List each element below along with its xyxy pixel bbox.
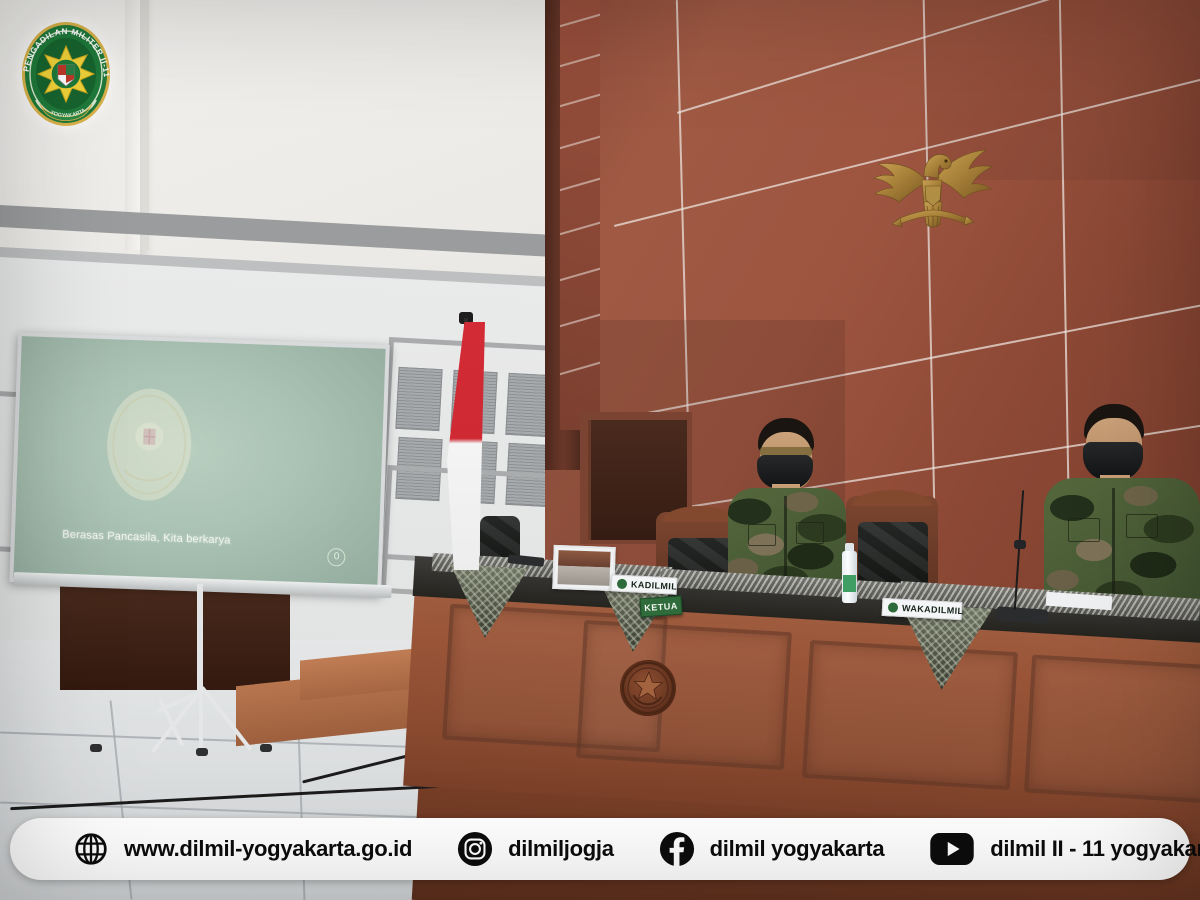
projection-screen-badge: 0 [327,548,346,567]
garuda-pancasila-emblem [858,128,998,238]
footer-item-youtube[interactable]: dilmil II - 11 yogyakarta [928,830,1200,868]
officer-center-chest-pocket [796,522,824,544]
tripod-leg [199,690,203,752]
facebook-icon [658,830,696,868]
nameplate-seal-icon [617,578,628,589]
nameplate-seal-icon [888,602,899,613]
hand-sanitizer-label [843,575,856,592]
tripod-foot [90,744,102,752]
footer-item-facebook[interactable]: dilmil yogyakarta [658,830,885,868]
nameplate-ketua-text: KETUA [644,600,678,612]
bench-front-panel [802,640,1018,790]
pengadilan-militer-logo: PENGADILAN MILITER II-11 YOGYAKARTA [14,18,118,130]
projected-logo [101,383,197,506]
nameplate-wakadilmil-text: WAKADILMIL [902,603,964,616]
desk-photo-frame [552,545,615,591]
bench-court-seal-carving [618,658,677,717]
bench-front-panel [576,620,792,770]
officer-right-chest-pocket [1068,518,1100,542]
footer-facebook-label: dilmil yogyakarta [710,836,885,862]
footer-item-website[interactable]: www.dilmil-yogyakarta.go.id [72,830,412,868]
youtube-icon [928,830,976,868]
tripod-center-post [197,584,203,694]
instagram-icon [456,830,494,868]
social-media-bar: www.dilmil-yogyakarta.go.id dilmiljogja [10,818,1190,880]
projection-screen-surface: Berasas Pancasila, Kita berkarya 0 [13,336,385,591]
microphone-capsule [1014,540,1026,549]
footer-website-label: www.dilmil-yogyakarta.go.id [124,836,412,862]
bench-front-panel [1024,655,1200,804]
dais-shadow-recess [60,580,290,690]
nameplate-ketua: KETUA [639,596,682,618]
globe-icon [72,830,110,868]
screenshot-root: KADILMIL KETUA WAKADILMIL Berasas Pancas… [0,0,1200,900]
projection-screen-caption: Berasas Pancasila, Kita berkarya [62,529,231,547]
tripod-foot [260,744,272,752]
footer-instagram-label: dilmiljogja [508,836,614,862]
nameplate-kadilmil-text: KADILMIL [631,579,678,591]
projection-screen: Berasas Pancasila, Kita berkarya 0 [9,332,389,595]
footer-youtube-label: dilmil II - 11 yogyakarta [990,836,1200,862]
wall-slat-panel [560,0,600,430]
nameplate-kadilmil: KADILMIL [611,574,678,594]
officer-right-chest-pocket [1126,514,1158,538]
tripod-foot [196,748,208,756]
footer-item-instagram[interactable]: dilmiljogja [456,830,614,868]
wall-grille-panel [395,367,442,431]
officer-center-chest-pocket [748,524,776,546]
